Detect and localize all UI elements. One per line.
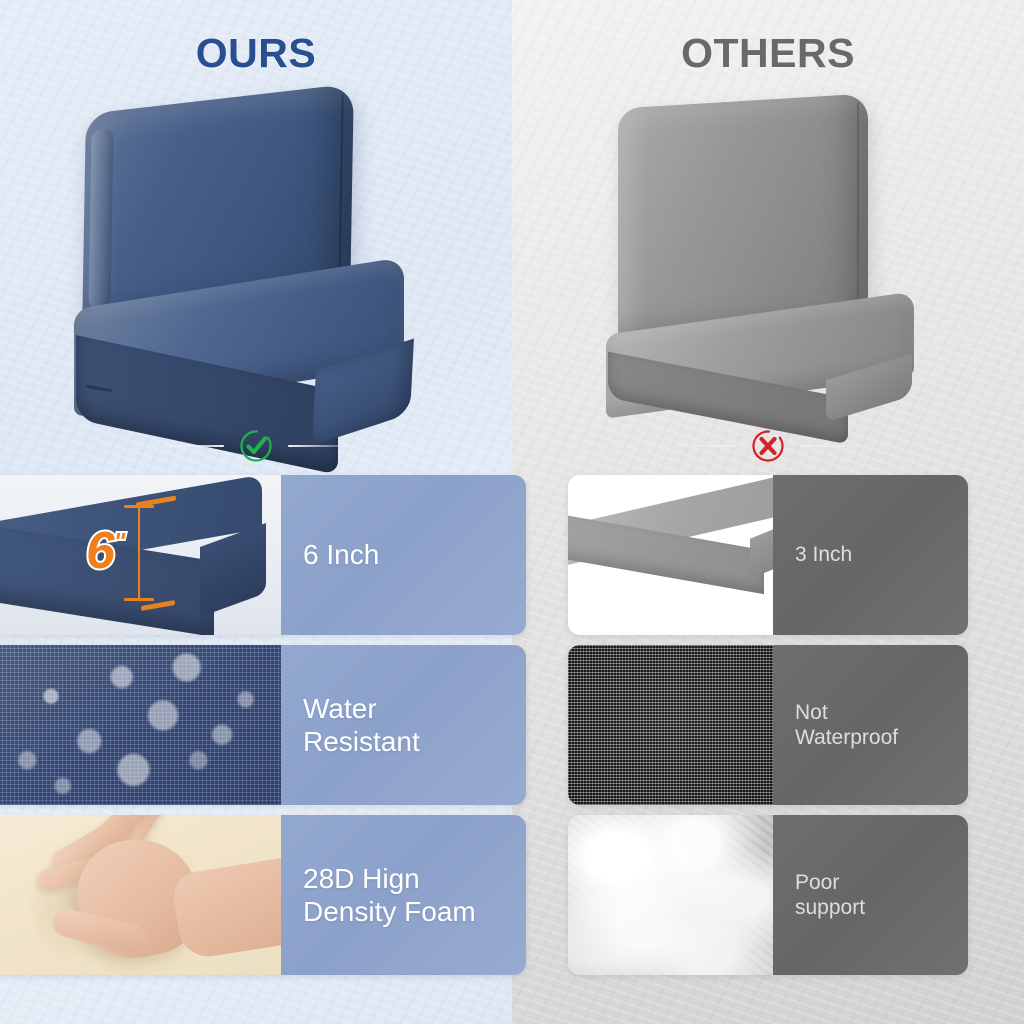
cross-circle-icon xyxy=(750,428,786,464)
ours-heading: OURS xyxy=(196,30,316,77)
blue-cushion-illustration xyxy=(56,87,456,417)
verdict-divider-left xyxy=(664,445,736,447)
feature-row: 6" 6 Inch xyxy=(0,475,526,635)
hand-pressing-memory-foam-photo xyxy=(0,815,281,975)
others-verdict-row xyxy=(512,417,1024,475)
ours-hero-image xyxy=(0,77,512,417)
loose-polyfill-stuffing-photo xyxy=(568,815,773,975)
others-feature-list: 3 Inch NotWaterproof Poorsupport xyxy=(512,475,1024,975)
ours-feature-list: 6" 6 Inch WaterResistant xyxy=(0,475,512,975)
dimension-unit: " xyxy=(114,529,124,556)
feature-row: 28D HignDensity Foam xyxy=(0,815,526,975)
water-beading-fabric-photo xyxy=(0,645,281,805)
ours-verdict-row xyxy=(0,417,512,475)
comparison-infographic: OURS xyxy=(0,0,1024,1024)
dimension-value: 6 xyxy=(86,522,114,580)
navy-foam-thickness-photo: 6" xyxy=(0,475,281,635)
verdict-divider-right xyxy=(288,445,360,447)
dimension-line xyxy=(138,507,140,599)
feature-row: 3 Inch xyxy=(568,475,968,635)
feature-label: Poorsupport xyxy=(773,815,968,975)
feature-row: NotWaterproof xyxy=(568,645,968,805)
feature-row: Poorsupport xyxy=(568,815,968,975)
others-hero-image xyxy=(512,77,1024,417)
feature-label: NotWaterproof xyxy=(773,645,968,805)
feature-label: 3 Inch xyxy=(773,475,968,635)
verdict-divider-left xyxy=(152,445,224,447)
ours-column: OURS xyxy=(0,0,512,1024)
verdict-divider-right xyxy=(800,445,872,447)
thin-slab-side xyxy=(750,515,773,578)
others-heading: OTHERS xyxy=(681,30,855,77)
others-column: OTHERS xyxy=(512,0,1024,1024)
feature-label: 28D HignDensity Foam xyxy=(281,815,526,975)
gray-thin-cushion-photo xyxy=(568,475,773,635)
gray-cushion-illustration xyxy=(578,87,958,417)
dry-gray-mesh-fabric-photo xyxy=(568,645,773,805)
dimension-badge-label: 6" xyxy=(86,521,124,581)
check-circle-icon xyxy=(238,428,274,464)
feature-label: 6 Inch xyxy=(281,475,526,635)
feature-row: WaterResistant xyxy=(0,645,526,805)
feature-label: WaterResistant xyxy=(281,645,526,805)
